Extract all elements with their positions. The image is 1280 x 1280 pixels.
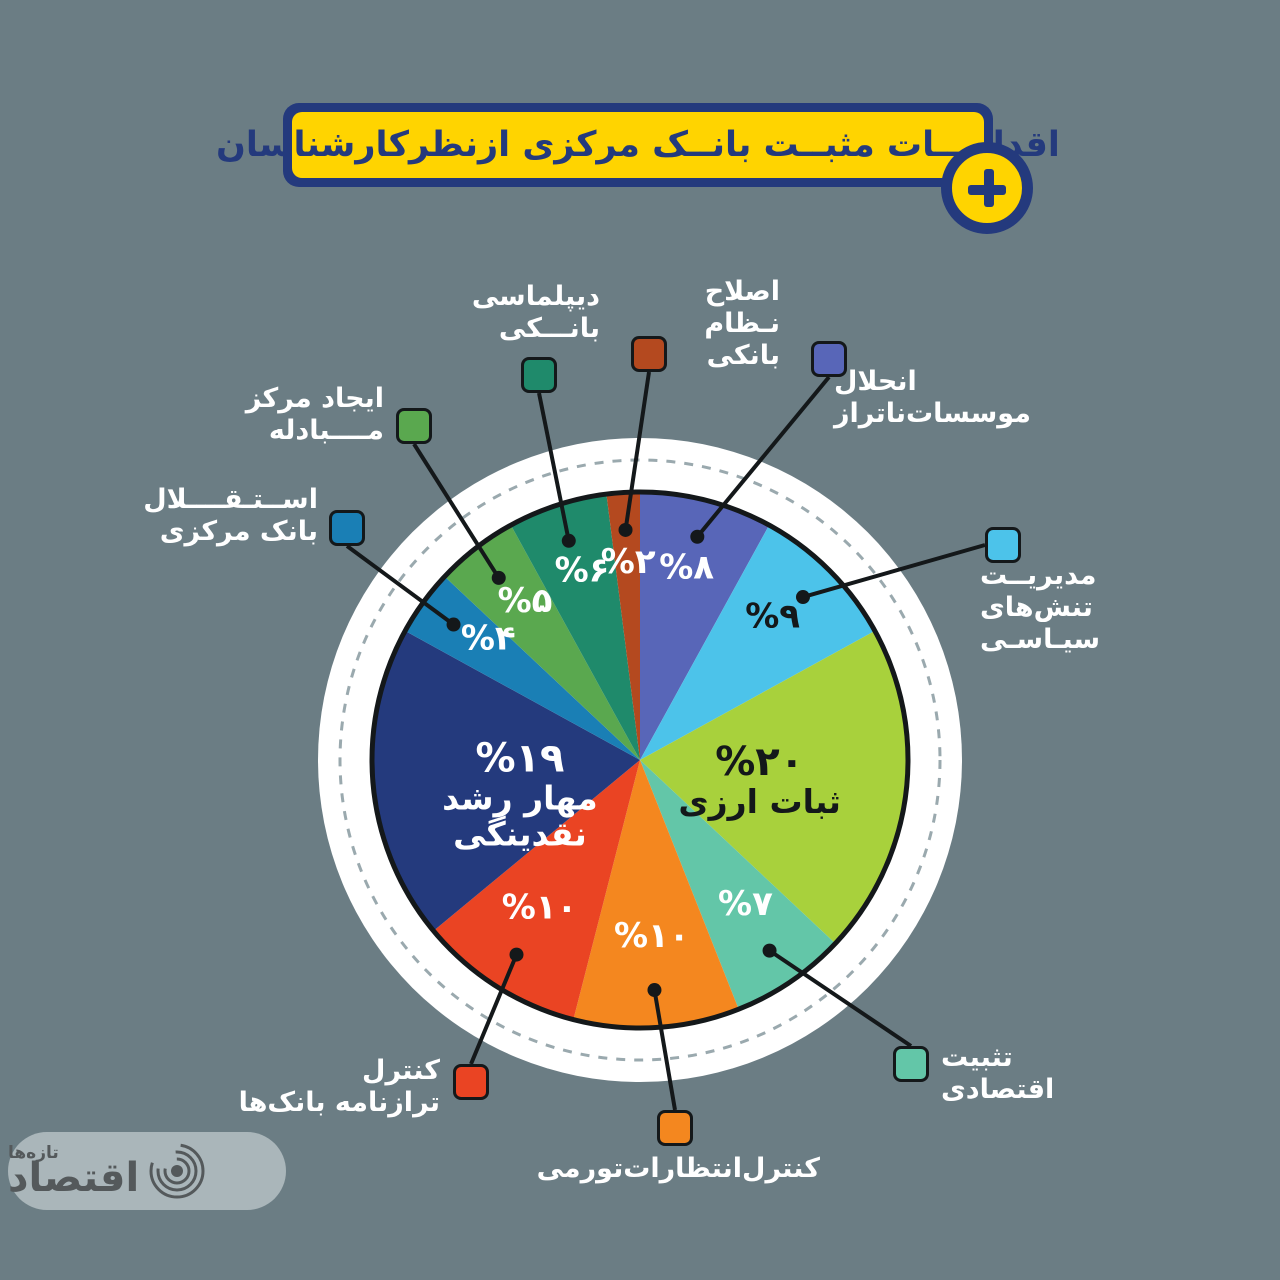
slice-name-label: مهار رشد — [442, 778, 598, 818]
leader-dot — [447, 618, 461, 632]
logo-title: اقتصاد — [8, 1158, 139, 1198]
swatch-kontrol-entezarat-tavarromi[interactable] — [657, 1110, 693, 1146]
swatch-kontrol-taraznameh-banks[interactable] — [453, 1064, 489, 1100]
callout-eslah-nezam-banki: اصلاح نـظام بانکی — [630, 276, 780, 372]
slice-value-label: %۲ — [601, 542, 656, 582]
radar-target-icon — [149, 1143, 205, 1199]
slice-value-label: %۸ — [659, 547, 714, 587]
slice-value-label: %۲۰ — [715, 739, 804, 785]
logo-wordmark: تازه‌ها اقتصاد — [8, 1145, 139, 1198]
plus-icon-vertical-bar — [984, 169, 994, 207]
callout-ijad-markaz-mobadele: ایجاد مرکز مــــبادله — [214, 383, 384, 447]
plus-icon[interactable] — [941, 142, 1033, 234]
swatch-tasbit-eghtesadi[interactable] — [893, 1046, 929, 1082]
callout-esteghlal-bank-markazi: اســتـقــــلال بانک مرکزی — [146, 484, 318, 548]
swatch-modiriat-tanesh-siasi[interactable] — [985, 527, 1021, 563]
slice-value-label: %۴ — [461, 619, 516, 659]
callout-kontrol-taraznameh-banks: کنترل ترازنامه بانک‌ها — [200, 1055, 440, 1119]
pie-chart: %۸%۹%۲۰ثبات ارزی%۷%۱۰%۱۰%۱۹مهار رشدنقدین… — [0, 0, 1280, 1280]
slice-name-label: نقدینگی — [453, 814, 587, 853]
slice-value-label: %۱۰ — [502, 887, 578, 927]
swatch-diplomasi-banki[interactable] — [521, 357, 557, 393]
callout-diplomasi-banki: دیپلماسی بانـــکی — [420, 281, 600, 345]
callout-modiriat-tanesh-siasi: مدیریــت تنش‌های سیـاسـی — [980, 560, 1180, 656]
site-logo: تازه‌ها اقتصاد — [8, 1132, 286, 1210]
callout-enhelal-moassesat-natraz: انحلال موسسات‌ناتراز — [834, 366, 1064, 430]
swatch-esteghlal-bank-markazi[interactable] — [329, 510, 365, 546]
slice-value-label: %۹ — [745, 596, 800, 636]
leader-dot — [763, 944, 777, 958]
slice-value-label: %۱۹ — [475, 735, 564, 781]
slice-value-label: %۵ — [498, 581, 553, 621]
swatch-ijad-markaz-mobadele[interactable] — [396, 408, 432, 444]
leader-dot — [562, 534, 576, 548]
callout-kontrol-entezarat-tavarromi: کنترل‌انتظارات‌تورمی — [530, 1153, 820, 1185]
leader-dot — [510, 948, 524, 962]
leader-dot — [619, 523, 633, 537]
leader-dot — [690, 530, 704, 544]
slice-value-label: %۱۰ — [614, 916, 690, 956]
slice-name-label: ثبات ارزی — [678, 782, 840, 821]
leader-dot — [647, 983, 661, 997]
slice-value-label: %۷ — [718, 884, 773, 924]
callout-tasbit-eghtesadi: تثبیت اقتصادی — [941, 1042, 1141, 1106]
